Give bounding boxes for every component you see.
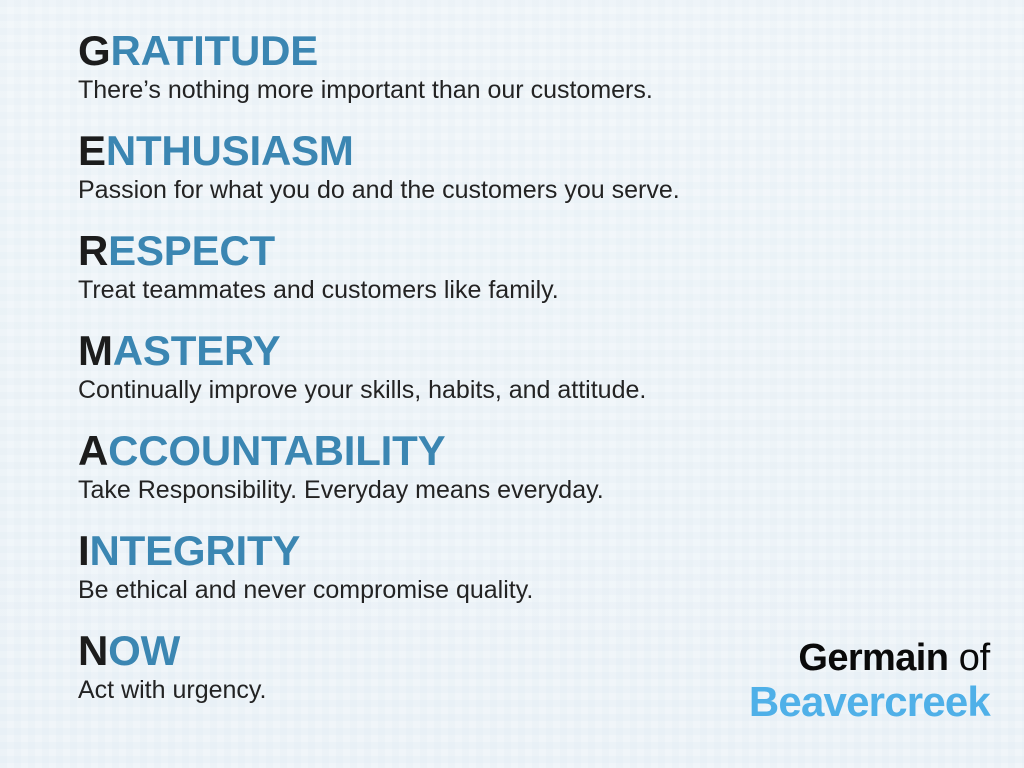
value-block-gratitude: GRATITUDE There’s nothing more important… <box>78 30 1024 120</box>
value-initial-letter: E <box>78 127 106 174</box>
value-block-respect: RESPECT Treat teammates and customers li… <box>78 230 1024 320</box>
values-list: GRATITUDE There’s nothing more important… <box>0 0 1024 720</box>
value-description-gratitude: There’s nothing more important than our … <box>78 76 1024 105</box>
value-remaining-letters: ESPECT <box>108 227 275 274</box>
values-poster: GRATITUDE There’s nothing more important… <box>0 0 1024 768</box>
value-description-accountability: Take Responsibility. Everyday means ever… <box>78 476 1024 505</box>
logo-connector-word <box>948 637 958 679</box>
value-remaining-letters: RATITUDE <box>110 27 318 74</box>
value-heading-accountability: ACCOUNTABILITY <box>78 430 1024 472</box>
value-remaining-letters: CCOUNTABILITY <box>108 427 445 474</box>
value-heading-respect: RESPECT <box>78 230 1024 272</box>
value-remaining-letters: OW <box>108 627 180 674</box>
value-initial-letter: I <box>78 527 89 574</box>
value-initial-letter: M <box>78 327 113 374</box>
value-description-enthusiasm: Passion for what you do and the customer… <box>78 176 1024 205</box>
value-initial-letter: G <box>78 27 110 74</box>
value-heading-integrity: INTEGRITY <box>78 530 1024 572</box>
value-initial-letter: N <box>78 627 108 674</box>
value-heading-enthusiasm: ENTHUSIASM <box>78 130 1024 172</box>
value-description-integrity: Be ethical and never compromise quality. <box>78 576 1024 605</box>
value-remaining-letters: ASTERY <box>113 327 281 374</box>
dealership-logo: Germain of Beavercreek <box>749 638 990 724</box>
value-remaining-letters: NTHUSIASM <box>106 127 354 174</box>
value-heading-gratitude: GRATITUDE <box>78 30 1024 72</box>
value-description-mastery: Continually improve your skills, habits,… <box>78 376 1024 405</box>
value-remaining-letters: NTEGRITY <box>89 527 300 574</box>
value-description-respect: Treat teammates and customers like famil… <box>78 276 1024 305</box>
value-block-integrity: INTEGRITY Be ethical and never compromis… <box>78 530 1024 620</box>
logo-top-line: Germain of <box>749 638 990 679</box>
logo-brand-name: Germain <box>798 637 948 679</box>
value-block-accountability: ACCOUNTABILITY Take Responsibility. Ever… <box>78 430 1024 520</box>
value-block-enthusiasm: ENTHUSIASM Passion for what you do and t… <box>78 130 1024 220</box>
value-initial-letter: A <box>78 427 108 474</box>
logo-location-name: Beavercreek <box>749 679 990 724</box>
value-block-mastery: MASTERY Continually improve your skills,… <box>78 330 1024 420</box>
value-heading-mastery: MASTERY <box>78 330 1024 372</box>
logo-connector-text: of <box>959 637 990 679</box>
value-initial-letter: R <box>78 227 108 274</box>
